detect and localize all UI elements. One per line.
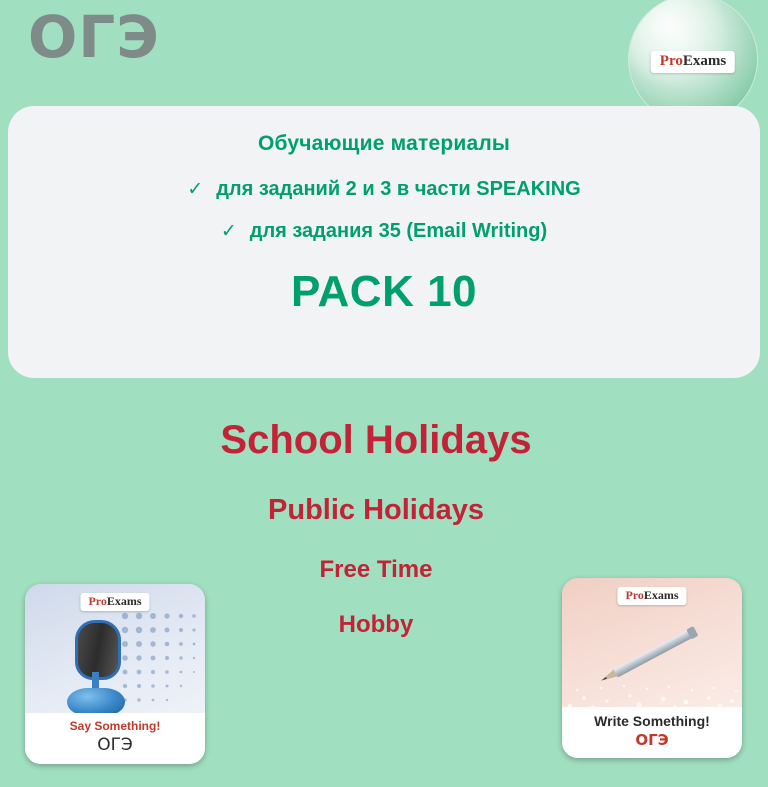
brand-pro-text: Pro (88, 594, 106, 608)
brand-chip: ProExams (651, 51, 735, 73)
brand-exams-text: Exams (644, 588, 679, 602)
list-item-label: для задания 35 (Email Writing) (250, 220, 547, 243)
bullet-list: ✓ для заданий 2 и 3 в части SPEAKING ✓ д… (8, 178, 760, 243)
thumbnail-caption: Say Something! (25, 719, 205, 733)
brand-pro-text: Pro (660, 53, 683, 69)
check-icon: ✓ (221, 222, 237, 241)
check-icon: ✓ (187, 180, 203, 199)
thumbnail-subcaption: ОГЭ (25, 735, 205, 755)
brand-chip: ProExams (80, 593, 149, 611)
list-item: ✓ для задания 35 (Email Writing) (8, 220, 760, 243)
thumbnail-subcaption: ОГЭ (562, 731, 742, 749)
thumbnail-caption: Write Something! (562, 713, 742, 729)
pack-title: PACK 10 (8, 267, 760, 317)
brand-exams-text: Exams (683, 53, 726, 69)
brand-chip: ProExams (617, 587, 686, 605)
card-title: Обучающие материалы (8, 132, 760, 156)
list-item: ✓ для заданий 2 и 3 в части SPEAKING (8, 178, 760, 201)
microphone-icon (53, 620, 139, 724)
brand-pro-text: Pro (625, 588, 643, 602)
topic-secondary: Public Holidays (0, 494, 752, 527)
thumbnail-writing[interactable]: ProExams Write Something! ОГЭ (562, 578, 742, 758)
info-card: Обучающие материалы ✓ для заданий 2 и 3 … (8, 106, 760, 378)
brand-exams-text: Exams (107, 594, 142, 608)
exam-label: ОГЭ (28, 8, 160, 66)
list-item-label: для заданий 2 и 3 в части SPEAKING (216, 178, 581, 201)
topic-primary: School Holidays (0, 418, 752, 462)
thumbnail-caption-block: Write Something! ОГЭ (562, 707, 742, 758)
thumbnail-speaking[interactable]: ProExams Say Something! ОГЭ (25, 584, 205, 764)
thumbnail-caption-block: Say Something! ОГЭ (25, 713, 205, 764)
